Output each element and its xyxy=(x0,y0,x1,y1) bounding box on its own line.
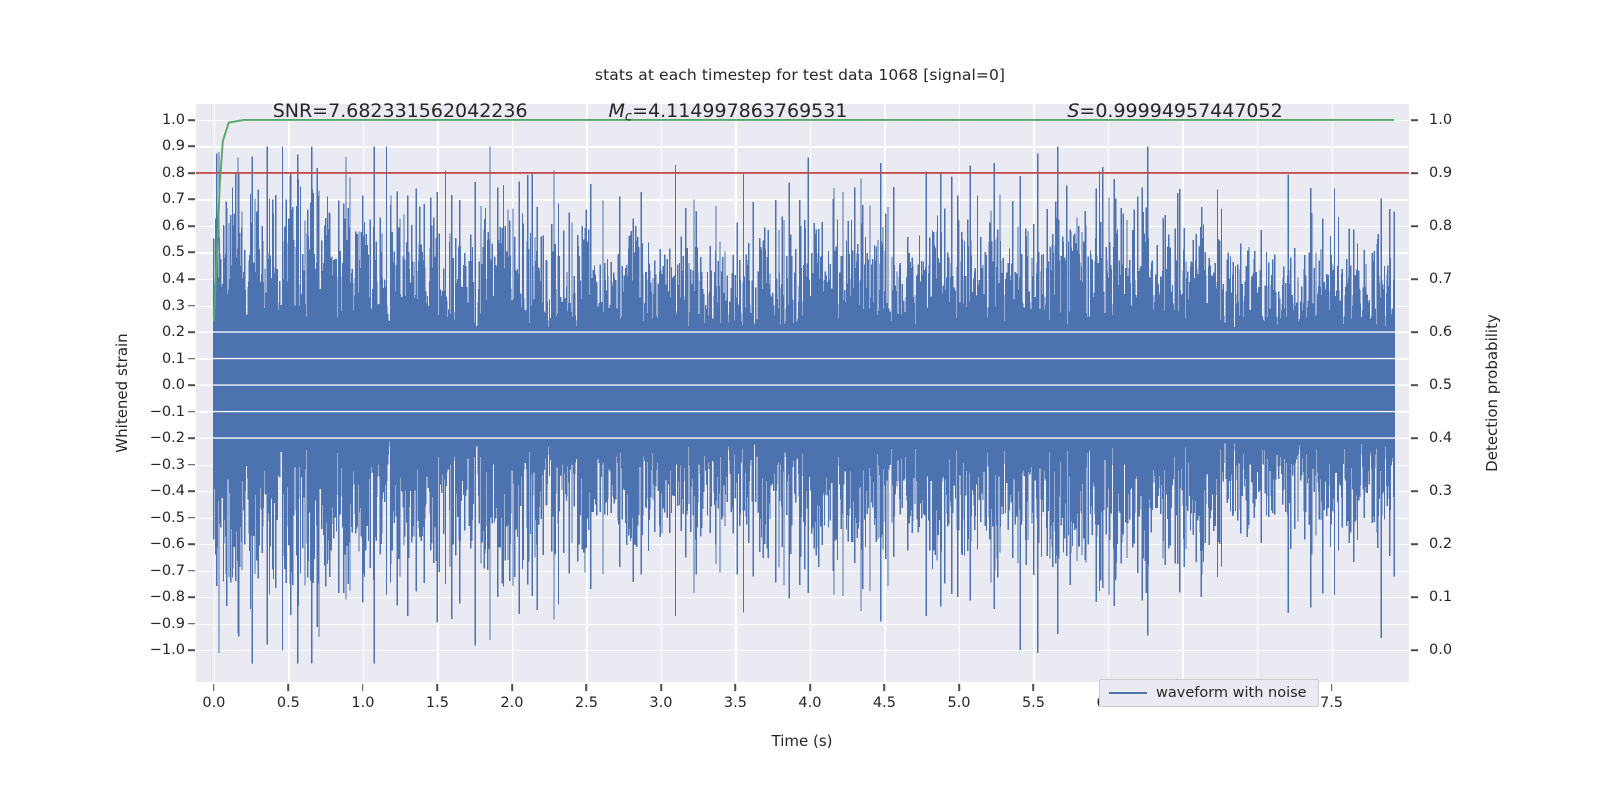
y-axis-right-label: Detection probability xyxy=(1483,314,1501,472)
x-axis-tick-label: 1.5 xyxy=(426,695,449,711)
probability-line xyxy=(214,120,1394,322)
y-axis-left-tickmark xyxy=(188,305,195,307)
detection-probability-line xyxy=(196,104,1409,682)
annotation-mchirp: Mc=4.114997863769531 xyxy=(609,100,848,125)
y-axis-left-tickmark xyxy=(188,411,195,413)
x-axis-tickmark xyxy=(884,684,886,691)
y-axis-right-tickmark xyxy=(1411,278,1418,280)
y-axis-left-tick-label: 0.0 xyxy=(162,377,185,393)
y-axis-left-tickmark xyxy=(188,464,195,466)
y-axis-right-tick-label: 0.8 xyxy=(1429,218,1452,234)
y-axis-left-tickmark xyxy=(188,172,195,174)
y-axis-left-tick-label: 0.6 xyxy=(162,218,185,234)
x-axis-tick-label: 7.5 xyxy=(1320,695,1343,711)
y-axis-left-tickmark xyxy=(188,596,195,598)
figure-canvas: stats at each timestep for test data 106… xyxy=(0,0,1600,800)
y-axis-right-tick-label: 1.0 xyxy=(1429,112,1452,128)
y-axis-left-tickmark xyxy=(188,649,195,651)
x-axis-tick-label: 3.5 xyxy=(724,695,747,711)
y-axis-left-tick-label: 1.0 xyxy=(162,112,185,128)
y-axis-left-tick-label: −1.0 xyxy=(150,642,185,658)
y-axis-right-tick-label: 0.6 xyxy=(1429,324,1452,340)
x-axis-tickmark xyxy=(437,684,439,691)
y-axis-left-tickmark xyxy=(188,278,195,280)
y-axis-right-tick-label: 0.2 xyxy=(1429,536,1452,552)
y-axis-right-tickmark xyxy=(1411,331,1418,333)
y-axis-right-tickmark xyxy=(1411,119,1418,121)
y-axis-right-tick-label: 0.0 xyxy=(1429,642,1452,658)
y-axis-left-tick-label: −0.6 xyxy=(150,536,185,552)
y-axis-left-tick-label: −0.5 xyxy=(150,510,185,526)
y-axis-left-label: Whitened strain xyxy=(113,333,131,452)
y-axis-left-tick-label: −0.4 xyxy=(150,483,185,499)
y-axis-left-tick-label: −0.3 xyxy=(150,457,185,473)
x-axis-tick-label: 1.0 xyxy=(351,695,374,711)
x-axis-tick-label: 0.0 xyxy=(202,695,225,711)
y-axis-right-tick-label: 0.1 xyxy=(1429,589,1452,605)
x-axis-tickmark xyxy=(213,684,215,691)
y-axis-left-tick-label: 0.5 xyxy=(162,244,185,260)
x-axis-tick-label: 2.5 xyxy=(575,695,598,711)
x-axis-tick-label: 0.5 xyxy=(277,695,300,711)
y-axis-right-tick-label: 0.5 xyxy=(1429,377,1452,393)
y-axis-right-tickmark xyxy=(1411,172,1418,174)
y-axis-right-tickmark xyxy=(1411,543,1418,545)
y-axis-right-tickmark xyxy=(1411,437,1418,439)
x-axis-tick-label: 3.0 xyxy=(649,695,672,711)
x-axis-tick-label: 2.0 xyxy=(500,695,523,711)
y-axis-left-tick-label: 0.4 xyxy=(162,271,185,287)
x-axis-tickmark xyxy=(660,684,662,691)
y-axis-right-tickmark xyxy=(1411,384,1418,386)
y-axis-right-tick-label: 0.9 xyxy=(1429,165,1452,181)
y-axis-left-tick-label: 0.9 xyxy=(162,138,185,154)
y-axis-left-tickmark xyxy=(188,146,195,148)
y-axis-right-tick-label: 0.7 xyxy=(1429,271,1452,287)
x-axis-tickmark xyxy=(288,684,290,691)
x-axis-tick-label: 4.5 xyxy=(873,695,896,711)
legend: waveform with noise xyxy=(1099,679,1319,707)
y-axis-left-tickmark xyxy=(188,331,195,333)
y-axis-left-tick-label: −0.9 xyxy=(150,616,185,632)
y-axis-right-tick-label: 0.4 xyxy=(1429,430,1452,446)
x-axis-tickmark xyxy=(958,684,960,691)
page-title: stats at each timestep for test data 106… xyxy=(0,66,1600,84)
y-axis-left-tick-label: 0.8 xyxy=(162,165,185,181)
y-axis-left-tickmark xyxy=(188,543,195,545)
x-axis-tickmark xyxy=(735,684,737,691)
y-axis-left-tick-label: 0.3 xyxy=(162,298,185,314)
x-axis-tick-label: 5.5 xyxy=(1022,695,1045,711)
x-axis-tickmark xyxy=(511,684,513,691)
y-axis-left-tickmark xyxy=(188,437,195,439)
y-axis-left-tickmark xyxy=(188,623,195,625)
annotation-snr: SNR=7.682331562042236 xyxy=(273,100,528,122)
y-axis-right-tickmark xyxy=(1411,649,1418,651)
x-axis-tickmark xyxy=(1033,684,1035,691)
y-axis-right-tickmark xyxy=(1411,490,1418,492)
legend-label-waveform: waveform with noise xyxy=(1156,685,1307,701)
x-axis-tick-label: 5.0 xyxy=(947,695,970,711)
y-axis-left-tickmark xyxy=(188,225,195,227)
y-axis-left-tickmark xyxy=(188,119,195,121)
x-axis-tick-label: 4.0 xyxy=(798,695,821,711)
y-axis-right-tick-label: 0.3 xyxy=(1429,483,1452,499)
y-axis-left-tick-label: 0.1 xyxy=(162,351,185,367)
y-axis-left-tick-label: 0.2 xyxy=(162,324,185,340)
y-axis-left-tick-label: −0.7 xyxy=(150,563,185,579)
x-axis-tickmark xyxy=(1331,684,1333,691)
x-axis-tickmark xyxy=(362,684,364,691)
y-axis-right-tickmark xyxy=(1411,225,1418,227)
y-axis-left-tickmark xyxy=(188,384,195,386)
x-axis-tickmark xyxy=(586,684,588,691)
y-axis-left-tick-label: −0.2 xyxy=(150,430,185,446)
x-axis-label: Time (s) xyxy=(772,732,833,750)
y-axis-right-tickmark xyxy=(1411,596,1418,598)
y-axis-left-tickmark xyxy=(188,490,195,492)
y-axis-left-tick-label: −0.1 xyxy=(150,404,185,420)
y-axis-left-tickmark xyxy=(188,199,195,201)
y-axis-left-tickmark xyxy=(188,517,195,519)
x-axis-tickmark xyxy=(809,684,811,691)
annotation-score: S=0.99994957447052 xyxy=(1067,100,1282,122)
y-axis-left-tickmark xyxy=(188,358,195,360)
legend-swatch-waveform xyxy=(1109,692,1147,694)
plot-area xyxy=(196,104,1409,682)
y-axis-left-tick-label: −0.8 xyxy=(150,589,185,605)
y-axis-left-tickmark xyxy=(188,570,195,572)
y-axis-left-tick-label: 0.7 xyxy=(162,191,185,207)
y-axis-left-tickmark xyxy=(188,252,195,254)
